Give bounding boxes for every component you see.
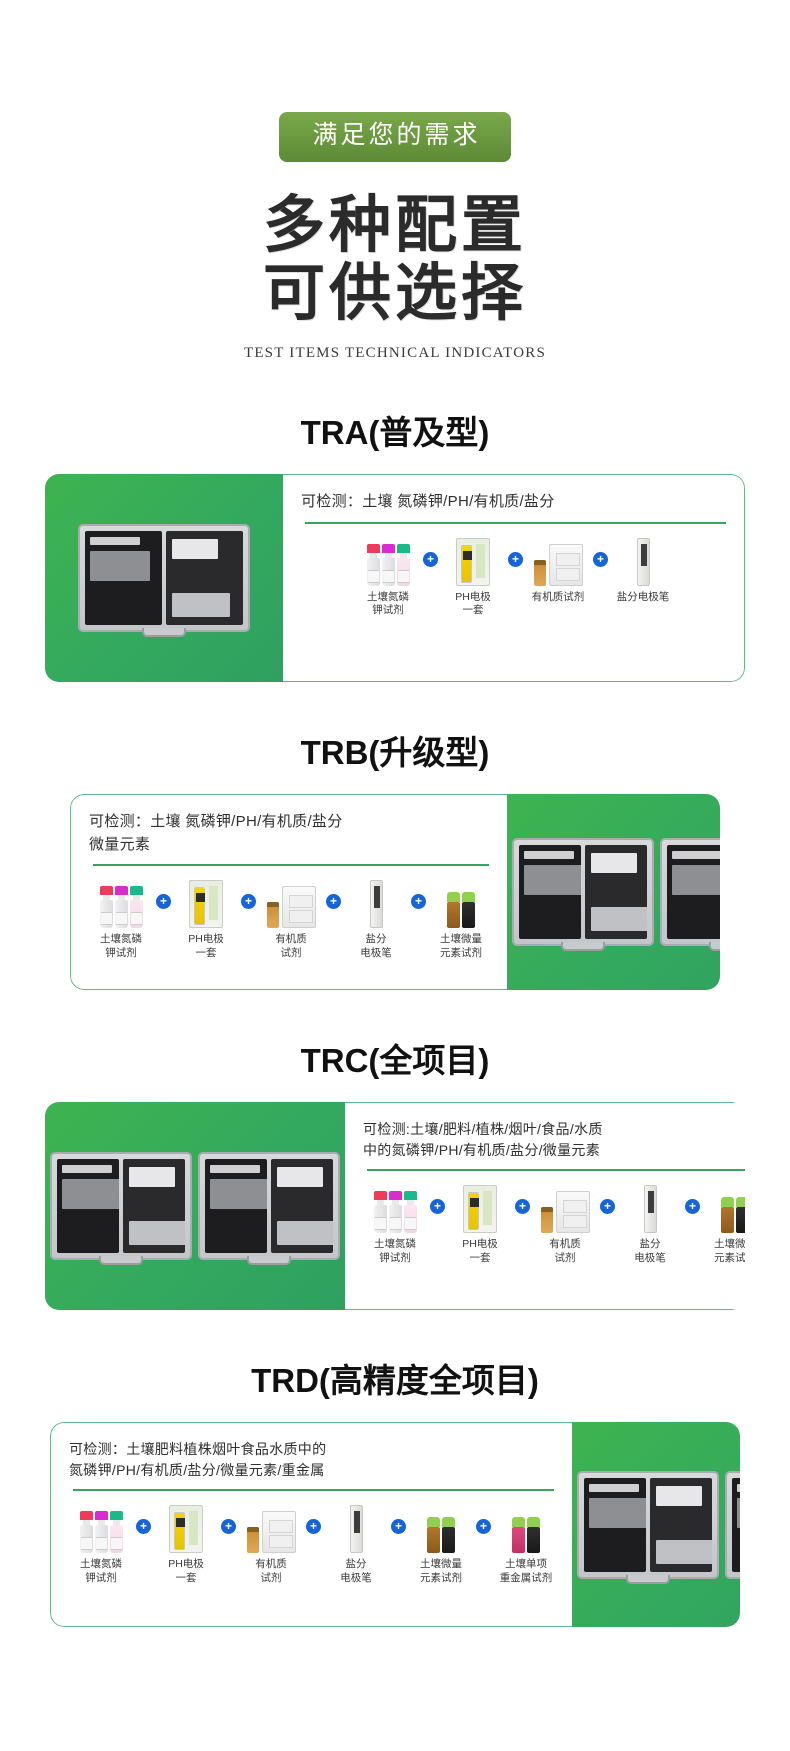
instrument-case <box>725 1471 740 1579</box>
instrument-case <box>577 1471 719 1579</box>
reagent-bottles-icon <box>80 1501 123 1553</box>
accessory-label: 盐分 电极笔 <box>340 1558 372 1584</box>
instrument-case <box>78 524 250 632</box>
detectable-items-text: 可检测：土壤 氮磷钾/PH/有机质/盐分 <box>301 491 730 514</box>
product-details: 可检测：土壤 氮磷钾/PH/有机质/盐分 微量元素土壤氮磷 钾试剂+PH电极 一… <box>70 794 507 990</box>
product-section: TRA(普及型)可检测：土壤 氮磷钾/PH/有机质/盐分土壤氮磷 钾试剂+PH电… <box>0 406 790 682</box>
product-details: 可检测：土壤 氮磷钾/PH/有机质/盐分土壤氮磷 钾试剂+PH电极 一套+有机质… <box>283 474 745 682</box>
accessory-label: 盐分 电极笔 <box>360 933 392 959</box>
accessory-item: 盐分电极笔 <box>611 534 675 604</box>
accessory-label: PH电极 一套 <box>168 1558 204 1584</box>
accessory-item: PH电极 一套 <box>154 1501 218 1584</box>
accessory-label: PH电极 一套 <box>188 933 224 959</box>
product-section: TRC(全项目)可检测:土壤/肥料/植株/烟叶/食品/水质 中的氮磷钾/PH/有… <box>0 1034 790 1310</box>
accessory-list: 土壤氮磷 钾试剂+PH电极 一套+有机质 试剂+盐分 电极笔+土壤微量 元素试剂… <box>69 1495 558 1618</box>
product-sections: TRA(普及型)可检测：土壤 氮磷钾/PH/有机质/盐分土壤氮磷 钾试剂+PH电… <box>0 406 790 1627</box>
product-section: TRD(高精度全项目)可检测：土壤肥料植株烟叶食品水质中的 氮磷钾/PH/有机质… <box>0 1354 790 1627</box>
accessory-item: 土壤微量 元素试剂 <box>429 876 493 959</box>
accessory-item: 土壤氮磷 钾试剂 <box>69 1501 133 1584</box>
product-photo <box>45 1102 345 1310</box>
product-photo <box>507 794 720 990</box>
accessory-label: 土壤单项 重金属试剂 <box>500 1558 553 1584</box>
product-card: 可检测：土壤肥料植株烟叶食品水质中的 氮磷钾/PH/有机质/盐分/微量元素/重金… <box>50 1422 740 1627</box>
organic-matter-reagent-icon <box>247 1501 296 1553</box>
salinity-pen-icon <box>350 1501 363 1553</box>
page-title-line2: 可供选择 <box>0 260 790 329</box>
ph-electrode-icon <box>189 876 223 928</box>
section-title: TRD(高精度全项目) <box>0 1354 790 1402</box>
plus-icon: + <box>423 552 438 567</box>
divider <box>305 522 726 524</box>
accessory-label: 有机质 试剂 <box>255 1558 287 1584</box>
page-subtitle: TEST ITEMS TECHNICAL INDICATORS <box>0 345 790 362</box>
salinity-pen-icon <box>637 534 650 586</box>
instrument-case <box>512 838 654 946</box>
page-header: 满足您的需求 多种配置 可供选择 TEST ITEMS TECHNICAL IN… <box>0 0 790 362</box>
instrument-case <box>198 1152 340 1260</box>
detectable-items-text: 可检测:土壤/肥料/植株/烟叶/食品/水质 中的氮磷钾/PH/有机质/盐分/微量… <box>363 1119 745 1161</box>
accessory-item: 土壤单项 重金属试剂 <box>494 1501 558 1584</box>
plus-icon: + <box>306 1519 321 1534</box>
accessory-label: 土壤氮磷 钾试剂 <box>100 933 142 959</box>
plus-icon: + <box>326 894 341 909</box>
accessory-label: 土壤微量 元素试剂 <box>440 933 482 959</box>
salinity-pen-icon <box>644 1181 657 1233</box>
plus-icon: + <box>136 1519 151 1534</box>
section-title: TRC(全项目) <box>0 1034 790 1082</box>
section-title: TRA(普及型) <box>0 406 790 454</box>
organic-matter-reagent-icon <box>541 1181 590 1233</box>
heavy-metal-reagent-icon <box>512 1501 540 1553</box>
product-photo <box>572 1422 740 1627</box>
product-section: TRB(升级型)可检测：土壤 氮磷钾/PH/有机质/盐分 微量元素土壤氮磷 钾试… <box>0 726 790 990</box>
trace-element-reagent-icon <box>427 1501 455 1553</box>
accessory-label: 有机质试剂 <box>532 591 585 604</box>
accessory-list: 土壤氮磷 钾试剂+PH电极 一套+有机质 试剂+盐分 电极笔+土壤微量 元素试剂 <box>363 1175 745 1301</box>
accessory-label: PH电极 一套 <box>455 591 491 617</box>
accessory-item: 土壤微量 元素试剂 <box>409 1501 473 1584</box>
ph-electrode-icon <box>463 1181 497 1233</box>
product-card: 可检测：土壤 氮磷钾/PH/有机质/盐分土壤氮磷 钾试剂+PH电极 一套+有机质… <box>45 474 745 682</box>
detectable-items-text: 可检测：土壤肥料植株烟叶食品水质中的 氮磷钾/PH/有机质/盐分/微量元素/重金… <box>69 1439 558 1481</box>
plus-icon: + <box>476 1519 491 1534</box>
accessory-label: 土壤微量 元素试剂 <box>714 1238 745 1264</box>
accessory-label: 土壤氮磷 钾试剂 <box>80 1558 122 1584</box>
plus-icon: + <box>685 1199 700 1214</box>
section-title: TRB(升级型) <box>0 726 790 774</box>
product-card: 可检测：土壤 氮磷钾/PH/有机质/盐分 微量元素土壤氮磷 钾试剂+PH电极 一… <box>70 794 720 990</box>
page-title-line1: 多种配置 <box>0 192 790 261</box>
page-title: 多种配置 可供选择 <box>0 192 790 330</box>
trace-element-reagent-icon <box>447 876 475 928</box>
accessory-item: 土壤氮磷 钾试剂 <box>89 876 153 959</box>
accessory-item: PH电极 一套 <box>174 876 238 959</box>
detectable-items-text: 可检测：土壤 氮磷钾/PH/有机质/盐分 微量元素 <box>89 811 493 856</box>
header-badge: 满足您的需求 <box>279 112 510 162</box>
product-details: 可检测:土壤/肥料/植株/烟叶/食品/水质 中的氮磷钾/PH/有机质/盐分/微量… <box>345 1102 745 1310</box>
instrument-case-pair <box>577 1471 740 1579</box>
reagent-bottles-icon <box>374 1181 417 1233</box>
plus-icon: + <box>221 1519 236 1534</box>
plus-icon: + <box>508 552 523 567</box>
instrument-case <box>50 1152 192 1260</box>
accessory-label: 土壤微量 元素试剂 <box>420 1558 462 1584</box>
reagent-bottles-icon <box>100 876 143 928</box>
accessory-item: 土壤氮磷 钾试剂 <box>363 1181 427 1264</box>
accessory-item: 有机质 试剂 <box>239 1501 303 1584</box>
accessory-item: 盐分 电极笔 <box>618 1181 682 1264</box>
accessory-label: 盐分 电极笔 <box>634 1238 666 1264</box>
instrument-case-pair <box>50 1152 340 1260</box>
accessory-item: 盐分 电极笔 <box>344 876 408 959</box>
instrument-case-pair <box>512 838 720 946</box>
accessory-label: 土壤氮磷 钾试剂 <box>374 1238 416 1264</box>
divider <box>93 864 489 866</box>
accessory-label: 有机质 试剂 <box>549 1238 581 1264</box>
plus-icon: + <box>515 1199 530 1214</box>
plus-icon: + <box>593 552 608 567</box>
accessory-item: 有机质试剂 <box>526 534 590 604</box>
accessory-item: 有机质 试剂 <box>259 876 323 959</box>
product-spec-page: 满足您的需求 多种配置 可供选择 TEST ITEMS TECHNICAL IN… <box>0 0 790 1657</box>
plus-icon: + <box>600 1199 615 1214</box>
instrument-case <box>660 838 720 946</box>
accessory-item: 土壤微量 元素试剂 <box>703 1181 745 1264</box>
plus-icon: + <box>156 894 171 909</box>
accessory-item: 土壤氮磷 钾试剂 <box>356 534 420 617</box>
accessory-label: 土壤氮磷 钾试剂 <box>367 591 409 617</box>
accessory-label: 有机质 试剂 <box>275 933 307 959</box>
accessory-item: 盐分 电极笔 <box>324 1501 388 1584</box>
divider <box>73 1489 554 1491</box>
accessory-item: 有机质 试剂 <box>533 1181 597 1264</box>
plus-icon: + <box>391 1519 406 1534</box>
accessory-item: PH电极 一套 <box>448 1181 512 1264</box>
accessory-label: 盐分电极笔 <box>617 591 670 604</box>
accessory-list: 土壤氮磷 钾试剂+PH电极 一套+有机质试剂+盐分电极笔 <box>301 528 730 674</box>
salinity-pen-icon <box>370 876 383 928</box>
divider <box>367 1169 745 1171</box>
product-card: 可检测:土壤/肥料/植株/烟叶/食品/水质 中的氮磷钾/PH/有机质/盐分/微量… <box>45 1102 745 1310</box>
product-photo <box>45 474 283 682</box>
accessory-list: 土壤氮磷 钾试剂+PH电极 一套+有机质 试剂+盐分 电极笔+土壤微量 元素试剂 <box>89 870 493 981</box>
plus-icon: + <box>241 894 256 909</box>
ph-electrode-icon <box>456 534 490 586</box>
reagent-bottles-icon <box>367 534 410 586</box>
accessory-label: PH电极 一套 <box>462 1238 498 1264</box>
trace-element-reagent-icon <box>721 1181 745 1233</box>
ph-electrode-icon <box>169 1501 203 1553</box>
product-details: 可检测：土壤肥料植株烟叶食品水质中的 氮磷钾/PH/有机质/盐分/微量元素/重金… <box>50 1422 572 1627</box>
plus-icon: + <box>430 1199 445 1214</box>
organic-matter-reagent-icon <box>534 534 583 586</box>
organic-matter-reagent-icon <box>267 876 316 928</box>
accessory-item: PH电极 一套 <box>441 534 505 617</box>
plus-icon: + <box>411 894 426 909</box>
